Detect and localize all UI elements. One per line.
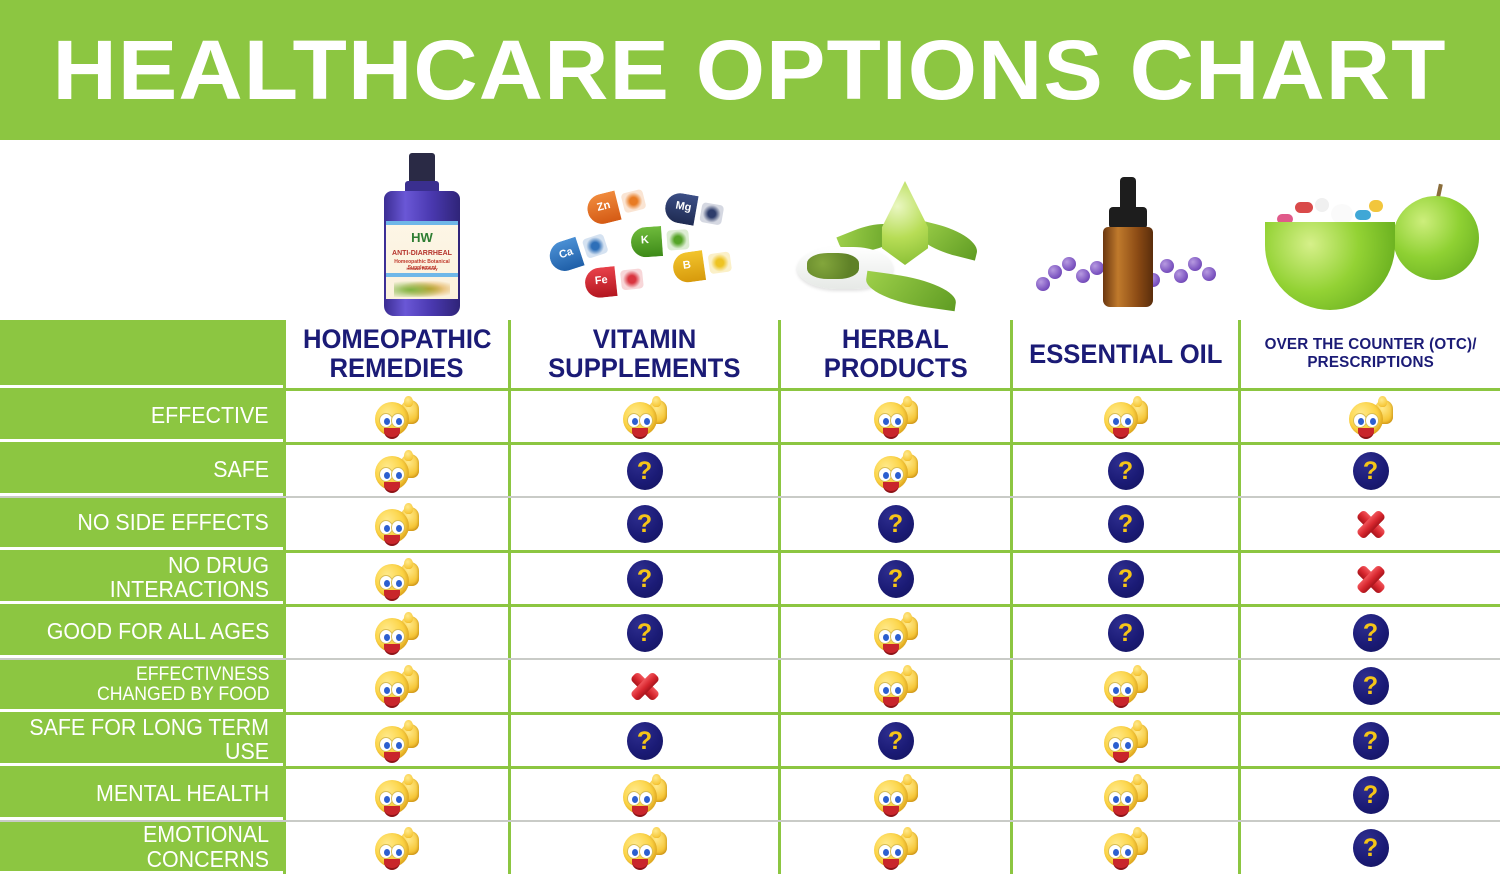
smiley-thumbs-up-icon (375, 613, 419, 653)
cell-1-yes (283, 822, 508, 874)
green-bowl (1265, 222, 1395, 310)
cell-4-maybe: ? (1010, 445, 1238, 496)
question-mark-icon: ? (1108, 452, 1144, 490)
smiley-thumbs-up-icon (874, 613, 918, 653)
smiley-thumbs-up-icon (1104, 397, 1148, 437)
question-mark-icon: ? (878, 722, 914, 760)
column-header-line2: PRESCRIPTIONS (1307, 354, 1434, 372)
table-row: NO SIDE EFFECTS??? (0, 496, 1500, 550)
comparison-table: HOMEOPATHIC REMEDIES VITAMIN SUPPLEMENTS… (0, 320, 1500, 874)
row-label-line2: CHANGED BY FOOD (97, 685, 269, 705)
cell-3-maybe: ? (778, 715, 1010, 766)
row-label-good-for-all-ages: GOOD FOR ALL AGES (0, 607, 283, 658)
essential-oil-image (1020, 173, 1235, 318)
row-label-safe: SAFE (0, 445, 283, 496)
cell-3-yes (778, 607, 1010, 658)
question-mark-icon: ? (627, 614, 663, 652)
product-image-strip: HW ANTI-DIARRHEAL Homeopathic Botanical … (0, 140, 1500, 320)
cell-4-yes (1010, 391, 1238, 442)
cell-1-yes (283, 391, 508, 442)
row-label-no-drug-interactions: NO DRUG INTERACTIONS (0, 553, 283, 604)
capsule-red: Fe (584, 263, 649, 299)
cell-5-maybe: ? (1238, 822, 1500, 874)
question-mark-icon: ? (1353, 667, 1389, 705)
table-row: SAFE??? (0, 442, 1500, 496)
cell-4-yes (1010, 822, 1238, 874)
vitamin-capsules-image: Ca Zn Mg K (545, 178, 760, 318)
column-header-line1: HERBAL (842, 325, 949, 354)
table-row: GOOD FOR ALL AGES??? (0, 604, 1500, 658)
question-mark-icon: ? (1353, 452, 1389, 490)
bottle-herb-graphic (394, 279, 450, 297)
row-label-line1: NO SIDE EFFECTS (78, 510, 269, 534)
herbal-products-image (795, 173, 1010, 318)
smiley-thumbs-up-icon (874, 451, 918, 491)
homeopathic-remedy-bottle-image: HW ANTI-DIARRHEAL Homeopathic Botanical … (362, 153, 482, 318)
red-cross-icon (1354, 508, 1388, 540)
row-label-line1: EFFECTIVNESS (97, 665, 269, 685)
cell-3-yes (778, 660, 1010, 712)
table-row: EFFECTIVE (0, 388, 1500, 442)
cell-5-maybe: ? (1238, 715, 1500, 766)
title-banner: HEALTHCARE OPTIONS CHART (0, 0, 1500, 140)
smiley-thumbs-up-icon (623, 397, 667, 437)
row-label-emotional-concerns: EMOTIONAL CONCERNS (0, 822, 283, 874)
cell-1-yes (283, 660, 508, 712)
table-row: MENTAL HEALTH? (0, 766, 1500, 820)
question-mark-icon: ? (1353, 614, 1389, 652)
cell-2-yes (508, 391, 778, 442)
table-row: EMOTIONAL CONCERNS? (0, 820, 1500, 874)
row-label-line1: MENTAL HEALTH (96, 781, 269, 805)
cell-5-no (1238, 553, 1500, 604)
row-label-line1: GOOD FOR ALL AGES (46, 619, 269, 643)
bottle-label: HW ANTI-DIARRHEAL Homeopathic Botanical … (386, 221, 458, 299)
smiley-thumbs-up-icon (375, 828, 419, 868)
cell-2-maybe: ? (508, 715, 778, 766)
row-label-line1: NO DRUG INTERACTIONS (19, 553, 269, 601)
column-header-line1: ESSENTIAL OIL (1029, 340, 1222, 369)
apple-icon (1393, 196, 1479, 280)
bottle-subtitle-2: Holistic Remedy (386, 266, 458, 271)
page-title: HEALTHCARE OPTIONS CHART (53, 28, 1447, 112)
red-cross-icon (1354, 563, 1388, 595)
smiley-thumbs-up-icon (1104, 721, 1148, 761)
table-row: NO DRUG INTERACTIONS??? (0, 550, 1500, 604)
question-mark-icon: ? (1108, 505, 1144, 543)
cell-2-yes (508, 822, 778, 874)
smiley-thumbs-up-icon (375, 721, 419, 761)
smiley-thumbs-up-icon (874, 775, 918, 815)
cell-1-yes (283, 715, 508, 766)
column-header-vitamin-supplements: VITAMIN SUPPLEMENTS (508, 320, 778, 388)
row-label-safe-for-long-term-use: SAFE FOR LONG TERM USE (0, 715, 283, 766)
question-mark-icon: ? (878, 560, 914, 598)
column-header-line2: PRODUCTS (824, 354, 968, 383)
dried-herbs (807, 253, 859, 279)
cell-3-yes (778, 391, 1010, 442)
smiley-thumbs-up-icon (1104, 666, 1148, 706)
smiley-thumbs-up-icon (375, 504, 419, 544)
red-cross-icon (628, 670, 662, 702)
row-label-line1: EFFECTIVE (151, 403, 269, 427)
cell-2-maybe: ? (508, 445, 778, 496)
smiley-thumbs-up-icon (1104, 828, 1148, 868)
bottle-product-name: ANTI-DIARRHEAL (386, 250, 458, 257)
smiley-thumbs-up-icon (623, 828, 667, 868)
cell-3-yes (778, 769, 1010, 820)
column-header-essential-oil: ESSENTIAL OIL (1010, 320, 1238, 388)
cell-2-yes (508, 769, 778, 820)
question-mark-icon: ? (627, 505, 663, 543)
healthcare-options-chart: HEALTHCARE OPTIONS CHART HW ANTI-DIARRHE… (0, 0, 1500, 879)
row-label-line1: SAFE FOR LONG TERM USE (19, 715, 269, 763)
cell-1-yes (283, 769, 508, 820)
row-label-no-side-effects: NO SIDE EFFECTS (0, 498, 283, 550)
column-header-homeopathic-remedies: HOMEOPATHIC REMEDIES (283, 320, 508, 388)
cell-4-yes (1010, 715, 1238, 766)
otc-pills-image (1255, 170, 1485, 318)
cell-2-maybe: ? (508, 498, 778, 550)
dropper-collar (1109, 207, 1147, 229)
bottle-cap-icon (409, 153, 435, 183)
corner-cell (0, 320, 283, 388)
table-row: EFFECTIVNESSCHANGED BY FOOD? (0, 658, 1500, 712)
cell-1-yes (283, 445, 508, 496)
row-label-line1: SAFE (213, 457, 269, 481)
cell-5-no (1238, 498, 1500, 550)
row-label-effective: EFFECTIVE (0, 391, 283, 442)
dropper-cap-icon (1120, 177, 1136, 211)
cell-1-yes (283, 498, 508, 550)
column-header-otc-prescriptions: OVER THE COUNTER (OTC)/ PRESCRIPTIONS (1238, 320, 1500, 388)
smiley-thumbs-up-icon (375, 666, 419, 706)
smiley-thumbs-up-icon (874, 828, 918, 868)
smiley-thumbs-up-icon (375, 451, 419, 491)
column-header-herbal-products: HERBAL PRODUCTS (778, 320, 1010, 388)
cell-3-yes (778, 445, 1010, 496)
cell-4-maybe: ? (1010, 498, 1238, 550)
table-header-row: HOMEOPATHIC REMEDIES VITAMIN SUPPLEMENTS… (0, 320, 1500, 388)
column-header-line1: VITAMIN (593, 325, 697, 354)
question-mark-icon: ? (627, 722, 663, 760)
question-mark-icon: ? (878, 505, 914, 543)
smiley-thumbs-up-icon (874, 397, 918, 437)
cell-3-maybe: ? (778, 553, 1010, 604)
row-label-mental-health: MENTAL HEALTH (0, 769, 283, 820)
cell-4-maybe: ? (1010, 607, 1238, 658)
smiley-thumbs-up-icon (623, 775, 667, 815)
cell-5-maybe: ? (1238, 607, 1500, 658)
cell-1-yes (283, 607, 508, 658)
question-mark-icon: ? (627, 452, 663, 490)
question-mark-icon: ? (1108, 560, 1144, 598)
cell-5-maybe: ? (1238, 445, 1500, 496)
row-label-effectivness-changed-by-food: EFFECTIVNESSCHANGED BY FOOD (0, 660, 283, 712)
question-mark-icon: ? (1353, 722, 1389, 760)
cell-3-yes (778, 822, 1010, 874)
cell-4-maybe: ? (1010, 553, 1238, 604)
row-label-line1: EMOTIONAL CONCERNS (19, 822, 269, 870)
question-mark-icon: ? (1108, 614, 1144, 652)
question-mark-icon: ? (1353, 776, 1389, 814)
column-header-line1: HOMEOPATHIC (303, 325, 492, 354)
smiley-thumbs-up-icon (375, 775, 419, 815)
cell-1-yes (283, 553, 508, 604)
cell-3-maybe: ? (778, 498, 1010, 550)
cell-4-yes (1010, 769, 1238, 820)
cell-5-maybe: ? (1238, 769, 1500, 820)
capsule-orange: Zn (584, 183, 651, 227)
leaf-icon (863, 271, 958, 312)
column-header-line2: SUPPLEMENTS (548, 354, 740, 383)
cell-5-yes (1238, 391, 1500, 442)
cell-2-maybe: ? (508, 553, 778, 604)
column-header-line2: REMEDIES (330, 354, 464, 383)
smiley-thumbs-up-icon (375, 397, 419, 437)
smiley-thumbs-up-icon (1349, 397, 1393, 437)
bottle-logo: HW (411, 230, 433, 246)
amber-bottle (1103, 227, 1153, 307)
smiley-thumbs-up-icon (874, 666, 918, 706)
cell-2-maybe: ? (508, 607, 778, 658)
table-row: SAFE FOR LONG TERM USE??? (0, 712, 1500, 766)
smiley-thumbs-up-icon (375, 559, 419, 599)
smiley-thumbs-up-icon (1104, 775, 1148, 815)
question-mark-icon: ? (1353, 829, 1389, 867)
cell-2-no (508, 660, 778, 712)
cell-5-maybe: ? (1238, 660, 1500, 712)
question-mark-icon: ? (627, 560, 663, 598)
column-header-line1: OVER THE COUNTER (OTC)/ (1264, 336, 1476, 354)
cell-4-yes (1010, 660, 1238, 712)
